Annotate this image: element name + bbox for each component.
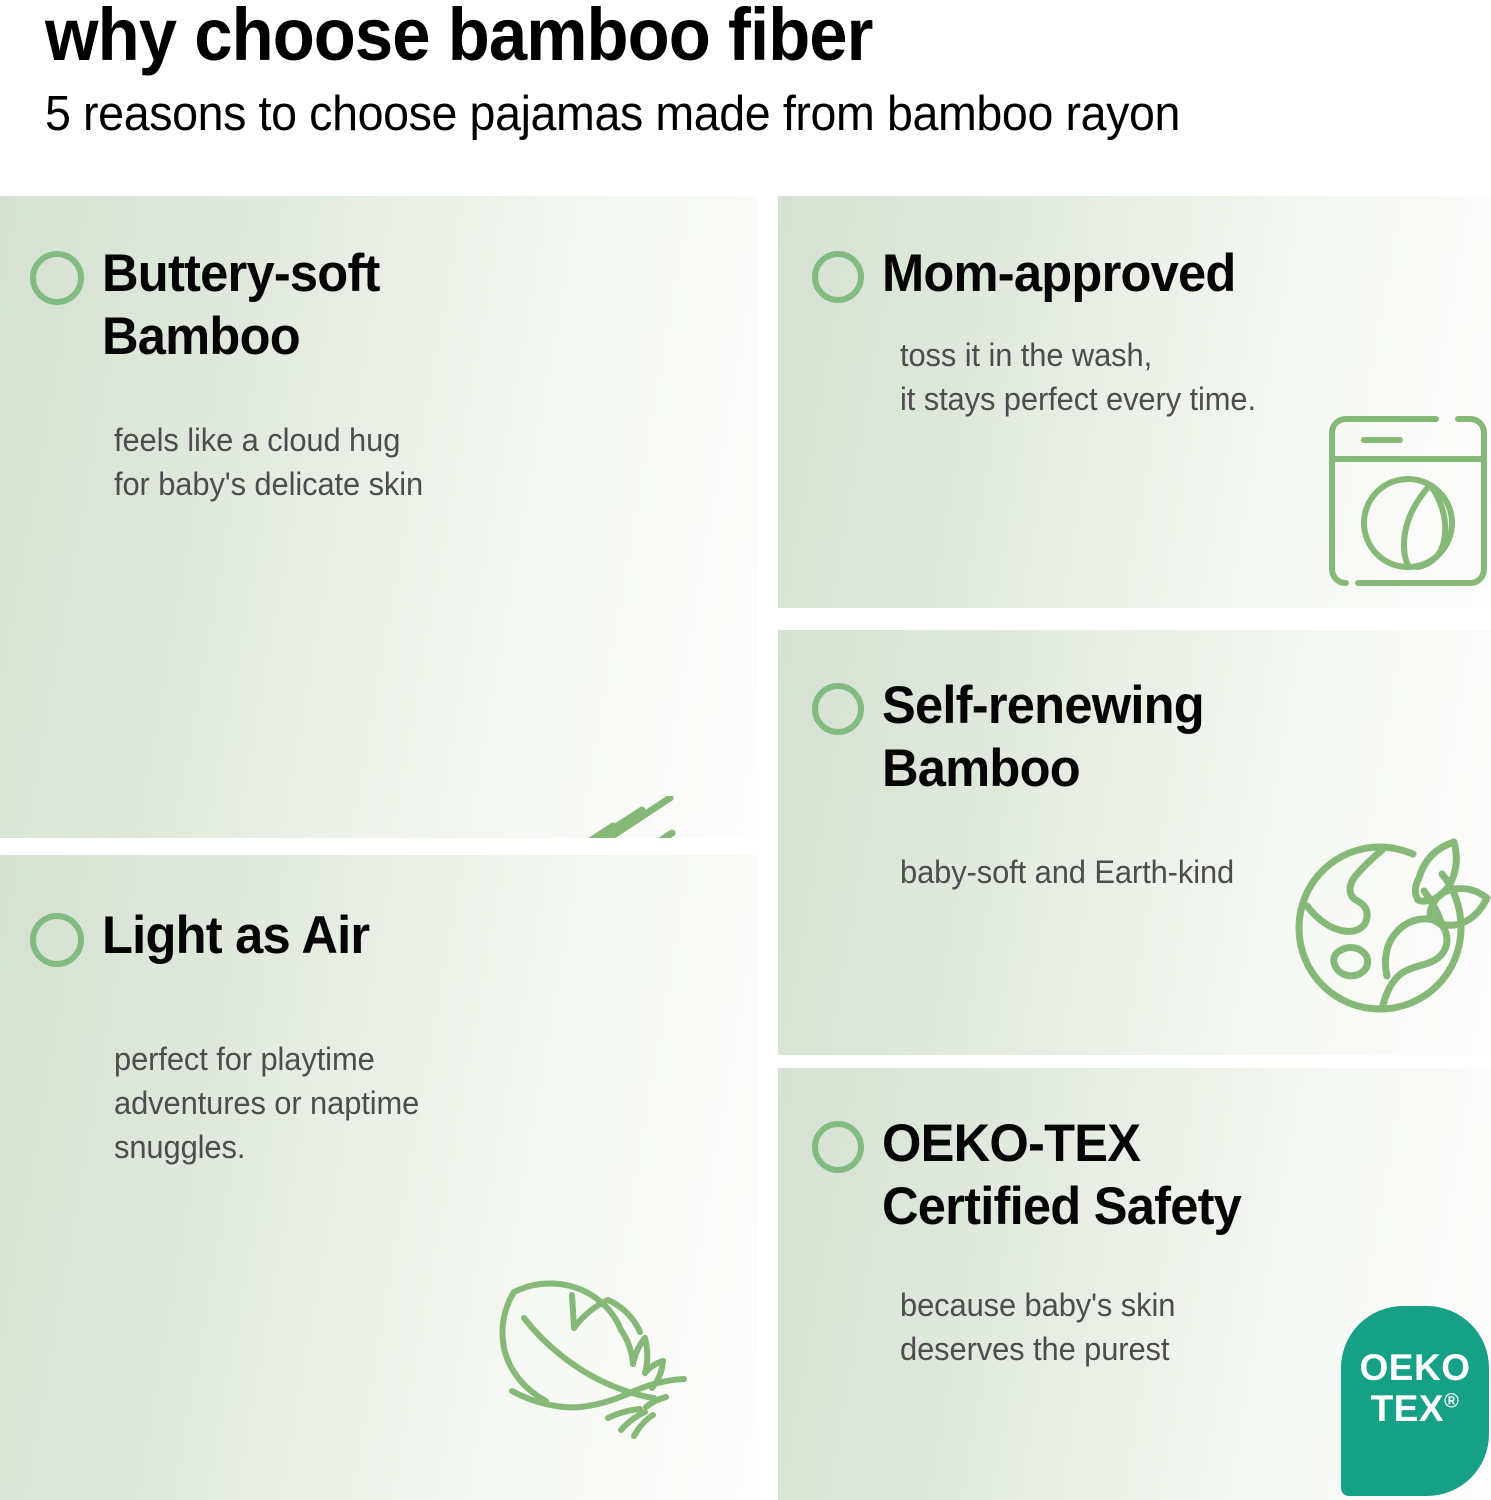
- bullet-circle-icon: [812, 251, 864, 303]
- card-title: Buttery-soft Bamboo: [102, 243, 380, 368]
- page-title: why choose bamboo fiber: [45, 0, 873, 74]
- feature-card-mom-approved: Mom-approved toss it in the wash, it sta…: [778, 196, 1491, 608]
- feature-card-light-as-air: Light as Air perfect for playtime advent…: [0, 855, 758, 1500]
- washing-machine-icon: [1318, 411, 1491, 591]
- card-header: Self-renewing Bamboo: [812, 675, 1219, 800]
- oeko-tex-badge: OEKO TEX®: [1341, 1306, 1489, 1496]
- card-description: because baby's skin deserves the purest: [900, 1283, 1175, 1371]
- card-header: Mom-approved: [812, 243, 1252, 306]
- card-title: Mom-approved: [882, 243, 1236, 306]
- card-description: toss it in the wash, it stays perfect ev…: [900, 333, 1256, 421]
- bullet-circle-icon: [30, 913, 84, 967]
- bullet-circle-icon: [812, 683, 864, 735]
- page-header: why choose bamboo fiber 5 reasons to cho…: [0, 0, 1491, 178]
- feature-card-oeko-tex-certified-safety: OEKO-TEX Certified Safety because baby's…: [778, 1068, 1491, 1500]
- feature-card-self-renewing-bamboo: Self-renewing Bamboo baby-soft and Earth…: [778, 630, 1491, 1055]
- card-title: Light as Air: [102, 905, 369, 968]
- card-title: Self-renewing Bamboo: [882, 675, 1204, 800]
- card-description: baby-soft and Earth-kind: [900, 850, 1234, 894]
- card-description: perfect for playtime adventures or napti…: [114, 1037, 419, 1169]
- page-subtitle: 5 reasons to choose pajamas made from ba…: [45, 88, 1180, 141]
- bullet-circle-icon: [30, 251, 84, 305]
- registered-mark-icon: ®: [1444, 1391, 1459, 1413]
- card-header: Light as Air: [30, 905, 382, 968]
- oeko-badge-line2: TEX®: [1371, 1388, 1460, 1429]
- oeko-badge-tex-text: TEX: [1371, 1388, 1444, 1429]
- card-title: OEKO-TEX Certified Safety: [882, 1113, 1241, 1238]
- card-description: feels like a cloud hug for baby's delica…: [114, 418, 423, 506]
- card-header: OEKO-TEX Certified Safety: [812, 1113, 1258, 1238]
- feature-card-buttery-soft-bamboo: Buttery-soft Bamboo feels like a cloud h…: [0, 196, 758, 838]
- feather-icon: [482, 1270, 717, 1460]
- infographic-page: why choose bamboo fiber 5 reasons to cho…: [0, 0, 1491, 1500]
- soft-touch-hand-icon: [492, 796, 727, 838]
- oeko-badge-line1: OEKO: [1360, 1347, 1471, 1388]
- earth-leaf-icon: [1294, 826, 1491, 1026]
- bullet-circle-icon: [812, 1121, 864, 1173]
- card-header: Buttery-soft Bamboo: [30, 243, 393, 368]
